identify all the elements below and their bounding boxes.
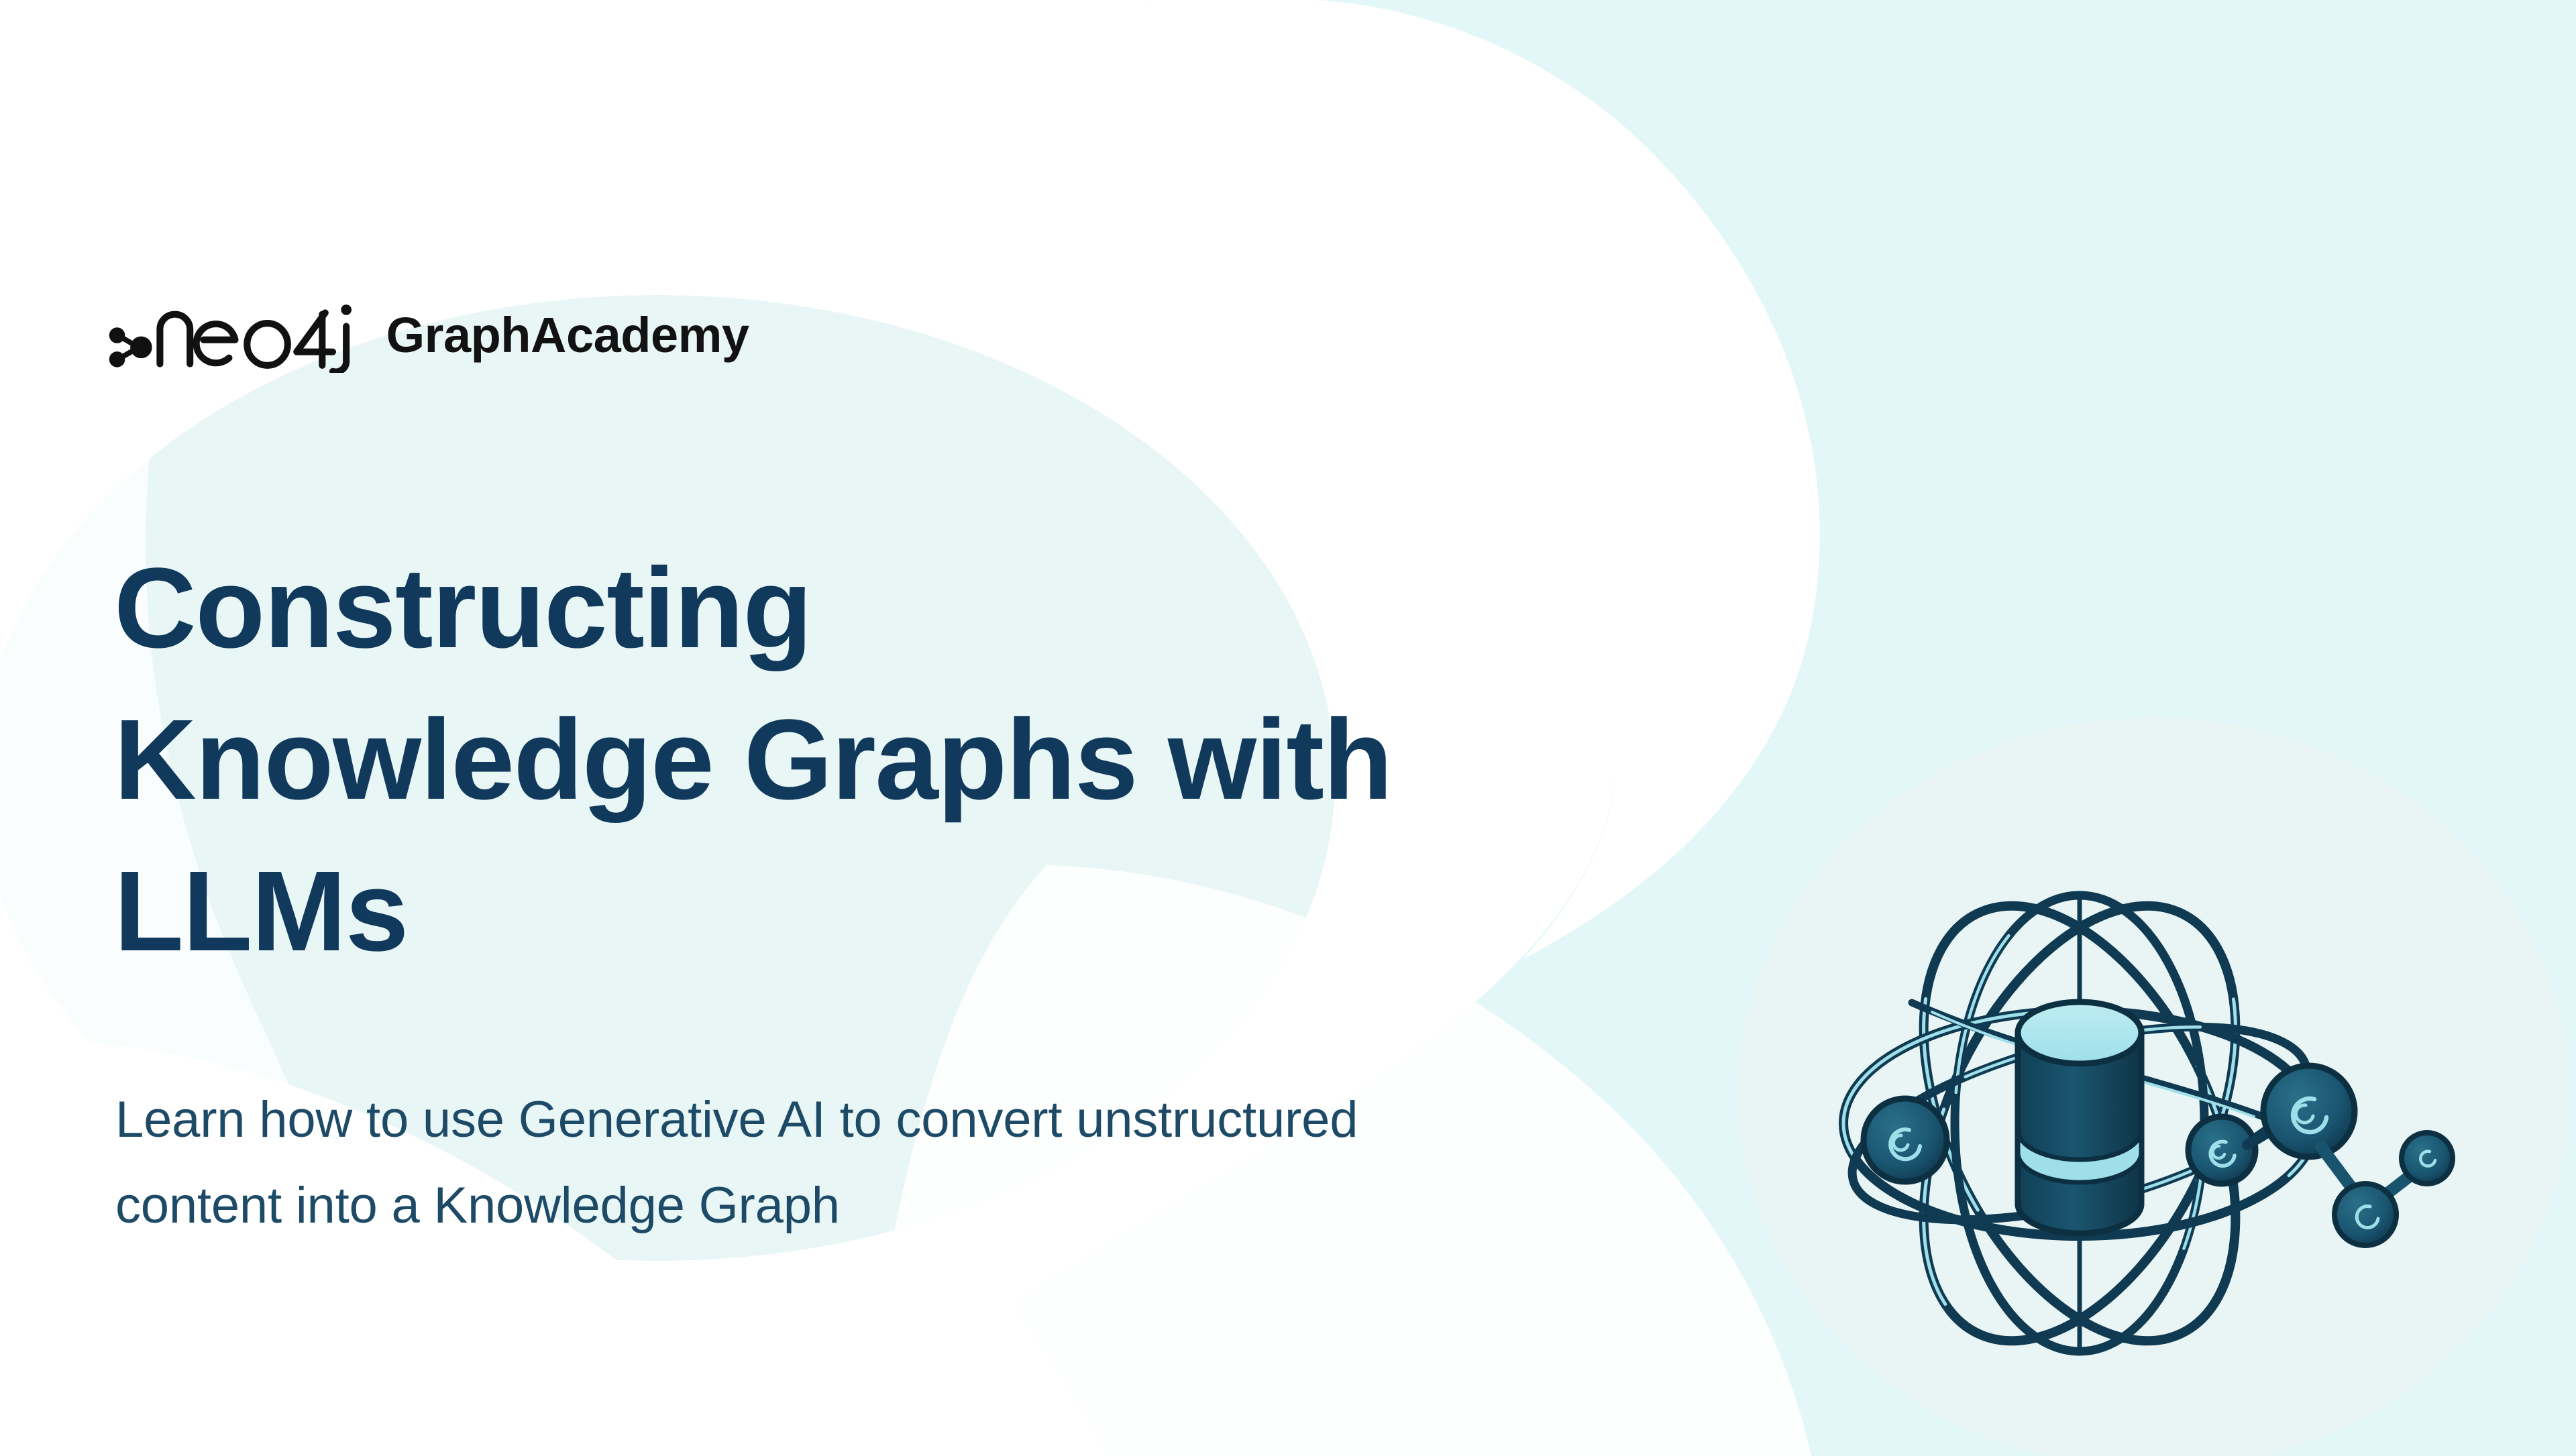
subtitle-line-2: content into a Knowledge Graph <box>115 1163 1725 1249</box>
page-title: Constructing Knowledge Graphs with LLMs <box>114 533 1791 987</box>
graphacademy-wordmark: GraphAcademy <box>386 311 749 360</box>
brand-logo-row[interactable]: GraphAcademy <box>107 288 749 382</box>
title-line-2: Knowledge Graphs with <box>114 684 1791 836</box>
graph-node <box>2334 1184 2396 1245</box>
atom-knowledge-graph-illustration <box>1811 835 2495 1385</box>
molecule-branch <box>2321 1133 2453 1245</box>
graphacademy-course-banner: GraphAcademy Constructing Knowledge Grap… <box>0 0 2576 1456</box>
graph-node <box>1864 1099 1947 1182</box>
graph-node <box>2263 1066 2355 1157</box>
database-cylinder <box>2018 1002 2141 1233</box>
graph-node <box>2188 1117 2255 1184</box>
title-line-1: Constructing <box>114 533 1791 684</box>
subtitle-line-1: Learn how to use Generative AI to conver… <box>115 1077 1725 1163</box>
neo4j-logo-icon[interactable] <box>107 298 356 373</box>
graph-node <box>2402 1133 2453 1184</box>
page-subtitle: Learn how to use Generative AI to conver… <box>115 1077 1725 1248</box>
title-line-3: LLMs <box>114 836 1791 987</box>
